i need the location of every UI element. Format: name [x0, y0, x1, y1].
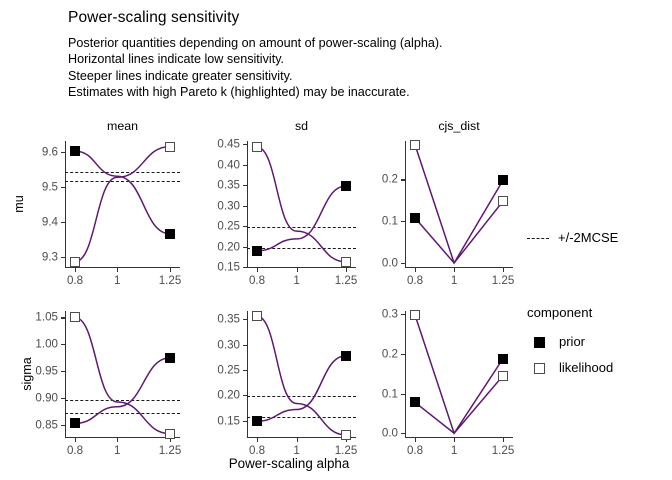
series-line-likelihood: [257, 147, 346, 262]
series-line-likelihood: [75, 147, 170, 262]
x-tick: [170, 268, 171, 272]
data-point-likelihood: [165, 142, 175, 152]
data-point-prior: [165, 229, 175, 239]
legend-likelihood-marker-icon: [534, 363, 545, 374]
x-tick: [257, 438, 258, 442]
y-tick-label: 0.20: [217, 389, 240, 402]
y-tick-label: 0.0: [382, 256, 398, 269]
x-tick-label: 1.25: [335, 274, 358, 287]
y-tick-label: 0.25: [217, 363, 240, 376]
x-tick: [257, 268, 258, 272]
x-tick: [415, 438, 416, 442]
y-tick-label: 0.90: [35, 392, 58, 405]
x-tick: [346, 268, 347, 272]
data-point-likelihood: [410, 310, 420, 320]
x-axis-title: Power-scaling alpha: [65, 456, 513, 471]
series-line-likelihood: [257, 316, 346, 435]
x-tick-label: 0.8: [407, 274, 423, 287]
legend-likelihood-label: likelihood: [559, 360, 613, 375]
legend-prior-marker-icon: [534, 337, 545, 348]
y-tick-label: 0.3: [382, 308, 398, 321]
strip-label-mean: mean: [65, 119, 180, 133]
series-lines: [65, 311, 180, 438]
panel-mu-mean: 9.39.49.59.60.811.25: [65, 141, 180, 268]
x-tick: [454, 438, 455, 442]
plot-area: 9.39.49.59.60.811.25: [65, 141, 180, 268]
y-tick-label: 0.95: [35, 365, 58, 378]
data-point-prior: [410, 397, 420, 407]
x-tick: [503, 268, 504, 272]
series-lines: [405, 141, 513, 268]
x-tick: [454, 268, 455, 272]
data-point-likelihood: [410, 140, 420, 150]
data-point-prior: [70, 418, 80, 428]
panel-sigma-sd: 0.150.200.250.300.350.811.25: [247, 311, 356, 438]
y-tick-label: 0.1: [382, 387, 398, 400]
plot-area: 0.00.10.20.30.811.25: [405, 311, 513, 438]
x-tick: [75, 438, 76, 442]
y-tick-label: 0.25: [217, 220, 240, 233]
series-line-prior: [257, 186, 346, 251]
series-line-prior: [75, 151, 170, 234]
series-line-prior: [415, 180, 503, 263]
x-tick-label: 0.8: [67, 274, 83, 287]
plot-area: 0.850.900.951.001.050.811.25: [65, 311, 180, 438]
x-tick-label: 1.25: [492, 274, 515, 287]
y-tick-label: 0.20: [217, 240, 240, 253]
x-tick: [297, 268, 298, 272]
subtitle-line-1: Posterior quantities depending on amount…: [68, 35, 443, 51]
y-tick-label: 0.40: [217, 158, 240, 171]
series-line-prior: [257, 356, 346, 422]
series-lines: [247, 141, 356, 268]
data-point-prior: [498, 354, 508, 364]
data-point-likelihood: [70, 257, 80, 267]
plot-area: 0.00.10.20.811.25: [405, 141, 513, 268]
subtitle-line-3: Steeper lines indicate greater sensitivi…: [68, 68, 443, 84]
data-point-likelihood: [498, 196, 508, 206]
page-title: Power-scaling sensitivity: [68, 8, 239, 27]
panel-mu-cjs_dist: 0.00.10.20.811.25: [405, 141, 513, 268]
mcse-dash-icon: [527, 238, 549, 239]
legend-component-title: component: [527, 305, 592, 320]
data-point-likelihood: [165, 429, 175, 439]
series-lines: [405, 311, 513, 438]
x-tick: [297, 438, 298, 442]
y-tick-label: 0.85: [35, 419, 58, 432]
strip-label-sd: sd: [247, 119, 356, 133]
y-tick-label: 9.3: [42, 250, 58, 263]
y-tick-label: 0.35: [217, 313, 240, 326]
panel-sigma-mean: 0.850.900.951.001.050.811.25: [65, 311, 180, 438]
y-tick-label: 0.30: [217, 338, 240, 351]
plot-area: 0.150.200.250.300.350.400.450.811.25: [247, 141, 356, 268]
y-tick-label: 0.45: [217, 138, 240, 151]
y-tick-label: 0.2: [382, 347, 398, 360]
panel-sigma-cjs_dist: 0.00.10.20.30.811.25: [405, 311, 513, 438]
y-tick-label: 0.0: [382, 427, 398, 440]
legend-mcse-label: +/-2MCSE: [558, 230, 618, 245]
data-point-likelihood: [70, 312, 80, 322]
y-tick-label: 1.05: [35, 311, 58, 324]
panel-mu-sd: 0.150.200.250.300.350.400.450.811.25: [247, 141, 356, 268]
y-tick-label: 0.35: [217, 179, 240, 192]
series-line-likelihood: [75, 317, 170, 433]
subtitle-line-2: Horizontal lines indicate low sensitivit…: [68, 51, 443, 67]
y-tick-label: 0.15: [217, 261, 240, 274]
power-scaling-sensitivity-figure: Power-scaling sensitivity Posterior quan…: [0, 0, 672, 480]
data-point-likelihood: [498, 371, 508, 381]
data-point-prior: [70, 146, 80, 156]
data-point-prior: [341, 351, 351, 361]
plot-area: 0.150.200.250.300.350.811.25: [247, 311, 356, 438]
series-line-likelihood: [415, 315, 503, 433]
series-lines: [247, 311, 356, 438]
data-point-likelihood: [341, 430, 351, 440]
data-point-prior: [165, 353, 175, 363]
data-point-likelihood: [252, 311, 262, 321]
x-tick: [75, 268, 76, 272]
x-tick: [117, 268, 118, 272]
y-tick-label: 0.2: [382, 173, 398, 186]
y-tick-label: 0.1: [382, 215, 398, 228]
data-point-likelihood: [341, 257, 351, 267]
y-tick-label: 0.30: [217, 199, 240, 212]
x-tick-label: 0.8: [249, 274, 265, 287]
strip-label-cjs_dist: cjs_dist: [405, 119, 513, 133]
figure-subtitle: Posterior quantities depending on amount…: [68, 35, 443, 100]
series-line-prior: [415, 359, 503, 434]
subtitle-line-4: Estimates with high Pareto k (highlighte…: [68, 84, 443, 100]
series-lines: [65, 141, 180, 268]
x-tick-label: 1: [114, 274, 120, 287]
x-tick: [415, 268, 416, 272]
legend-prior-label: prior: [559, 334, 585, 349]
x-tick: [503, 438, 504, 442]
data-point-likelihood: [252, 142, 262, 152]
series-line-prior: [75, 358, 170, 424]
y-tick-label: 0.15: [217, 414, 240, 427]
x-tick: [117, 438, 118, 442]
data-point-prior: [498, 175, 508, 185]
y-tick-label: 9.4: [42, 215, 58, 228]
row-label-mu: mu: [12, 195, 26, 213]
y-tick-label: 1.00: [35, 338, 58, 351]
x-tick-label: 1: [451, 274, 457, 287]
x-tick-label: 1: [293, 274, 299, 287]
data-point-prior: [410, 213, 420, 223]
x-tick-label: 1.25: [159, 274, 182, 287]
data-point-prior: [341, 181, 351, 191]
y-tick-label: 9.5: [42, 181, 58, 194]
data-point-prior: [252, 246, 262, 256]
row-label-sigma: sigma: [20, 357, 34, 391]
data-point-prior: [252, 416, 262, 426]
y-tick-label: 9.6: [42, 146, 58, 159]
